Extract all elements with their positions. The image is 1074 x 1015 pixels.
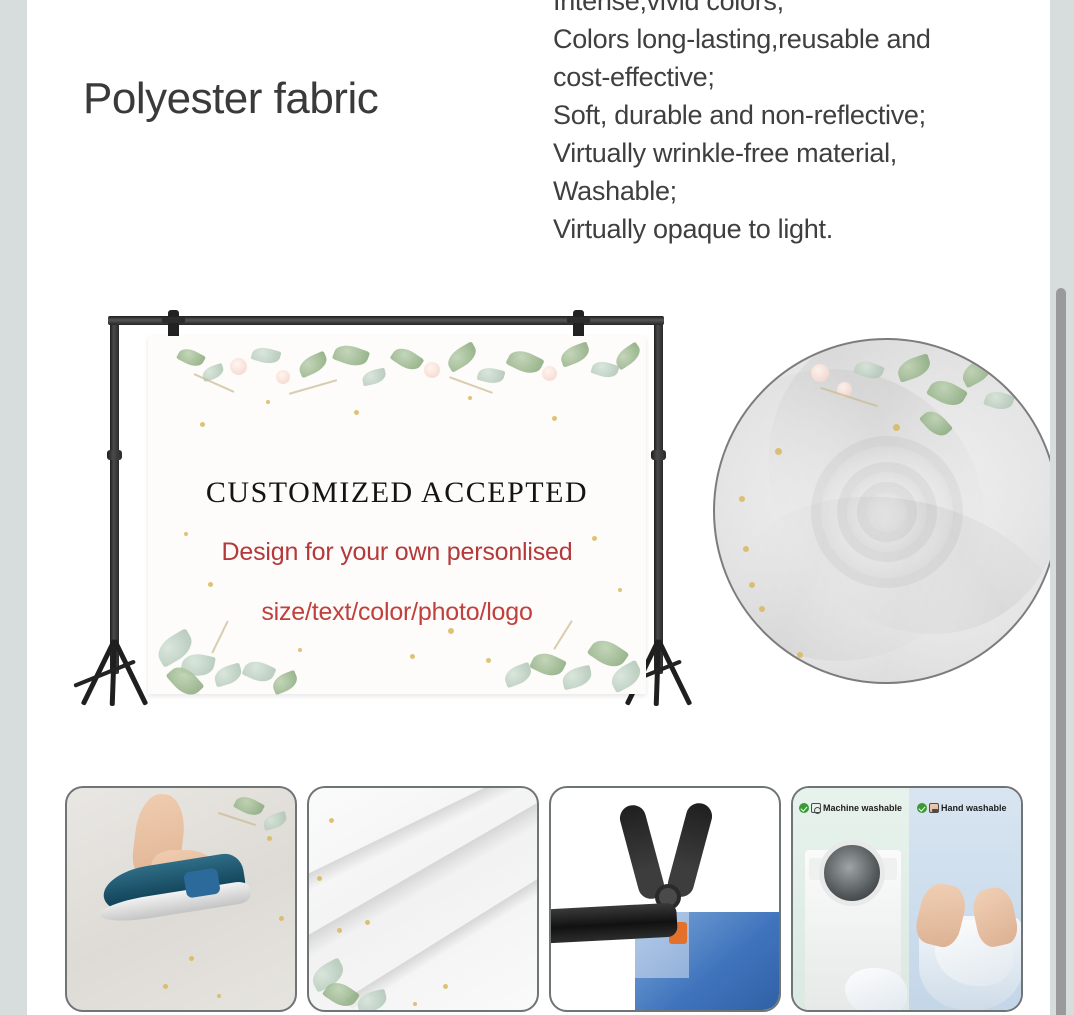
feature-line: Colors long-lasting,reusable and — [553, 20, 1033, 58]
gold-dot — [365, 920, 370, 925]
thumbnail-folded-fabric[interactable] — [307, 786, 539, 1012]
page-title: Polyester fabric — [83, 74, 378, 124]
gold-dot — [775, 448, 782, 455]
stand-right-pole — [654, 318, 663, 674]
leaf-icon — [477, 365, 506, 386]
leaf-icon — [250, 344, 281, 366]
gold-dot — [163, 984, 168, 989]
feature-line: Soft, durable and non-reflective; — [553, 96, 1033, 134]
leaf-icon — [558, 341, 592, 367]
gold-dot — [413, 1002, 417, 1006]
gold-dot — [200, 422, 205, 427]
leaf-icon — [212, 662, 244, 687]
washing-machine-icon — [811, 803, 821, 813]
gold-dot — [797, 652, 803, 658]
laundry-pile — [845, 968, 907, 1012]
blossom-icon — [230, 358, 247, 375]
page-root: Polyester fabric Intense,vivid colors; C… — [0, 0, 1074, 1015]
gold-dot — [486, 658, 491, 663]
blossom-icon — [542, 366, 557, 381]
hand-wash-icon — [929, 803, 939, 813]
scrollbar-thumb[interactable] — [1056, 288, 1066, 1015]
leaf-icon — [444, 341, 481, 373]
gold-dot — [893, 424, 900, 431]
leaf-icon — [529, 648, 567, 681]
hero-product-photo: CUSTOMIZED ACCEPTED Design for your own … — [54, 300, 1050, 750]
gold-dot — [279, 916, 284, 921]
blossom-icon — [276, 370, 290, 384]
stand-left-pole — [110, 318, 119, 674]
gold-dot — [618, 588, 622, 592]
badge-machine-washable: Machine washable — [799, 803, 902, 813]
gold-dot — [759, 606, 765, 612]
backdrop-banner: CUSTOMIZED ACCEPTED Design for your own … — [148, 336, 646, 694]
fabric-swatch-circle — [713, 338, 1050, 684]
badge-label: Machine washable — [823, 803, 902, 813]
thumbnail-row: Machine washable Hand washable — [65, 786, 1050, 1012]
gold-dot — [298, 648, 302, 652]
blossom-icon — [424, 362, 440, 378]
check-circle-icon — [917, 803, 927, 813]
leaf-icon — [390, 343, 425, 375]
banner-subline-1: Design for your own personlised — [148, 538, 646, 567]
gold-dot — [448, 628, 454, 634]
leaf-icon — [176, 345, 206, 370]
leaf-icon — [233, 792, 265, 819]
gold-dot — [217, 994, 221, 998]
gold-dot — [189, 956, 194, 961]
badge-label: Hand washable — [941, 803, 1007, 813]
washing-machine-door — [819, 840, 885, 906]
thumbnail-ironing[interactable] — [65, 786, 297, 1012]
gold-dot — [267, 836, 272, 841]
feature-line: cost-effective; — [553, 58, 1033, 96]
leaf-icon — [361, 368, 387, 387]
thumbnail-clamp[interactable] — [549, 786, 781, 1012]
iron-knob — [183, 868, 221, 899]
gold-dot — [208, 582, 213, 587]
badge-hand-washable: Hand washable — [917, 803, 1007, 813]
gold-dot — [329, 818, 334, 823]
thumbnail-washable[interactable]: Machine washable Hand washable — [791, 786, 1023, 1012]
gold-dot — [184, 532, 188, 536]
leaf-icon — [560, 665, 594, 691]
stand-right-collar — [651, 450, 666, 460]
leaf-icon — [241, 657, 276, 687]
feature-line: Virtually opaque to light. — [553, 210, 1033, 248]
fabric-fold — [345, 861, 539, 1011]
blossom-icon — [811, 364, 829, 382]
leaf-icon — [505, 346, 544, 379]
gold-dot — [749, 582, 755, 588]
feature-list: Intense,vivid colors; Colors long-lastin… — [553, 0, 1033, 248]
gold-dot — [443, 984, 448, 989]
check-circle-icon — [799, 803, 809, 813]
content-sheet: Polyester fabric Intense,vivid colors; C… — [27, 0, 1050, 1015]
feature-line: Intense,vivid colors; — [553, 0, 1033, 20]
gold-dot — [743, 546, 749, 552]
gold-dot — [739, 496, 745, 502]
leaf-icon — [296, 351, 330, 379]
banner-headline: CUSTOMIZED ACCEPTED — [148, 476, 646, 510]
gold-dot — [337, 928, 342, 933]
leaf-icon — [262, 811, 289, 831]
gold-dot — [266, 400, 270, 404]
twig-icon — [289, 379, 338, 395]
gold-dot — [552, 416, 557, 421]
gold-dot — [354, 410, 359, 415]
stand-left-collar — [107, 450, 122, 460]
stand-bar — [549, 903, 678, 944]
gold-dot — [317, 876, 322, 881]
feature-line: Washable; — [553, 172, 1033, 210]
feature-line: Virtually wrinkle-free material, — [553, 134, 1033, 172]
gold-dot — [410, 654, 415, 659]
leaf-icon — [332, 341, 370, 370]
scrollbar-track[interactable] — [1050, 0, 1074, 1015]
gold-dot — [468, 396, 472, 400]
